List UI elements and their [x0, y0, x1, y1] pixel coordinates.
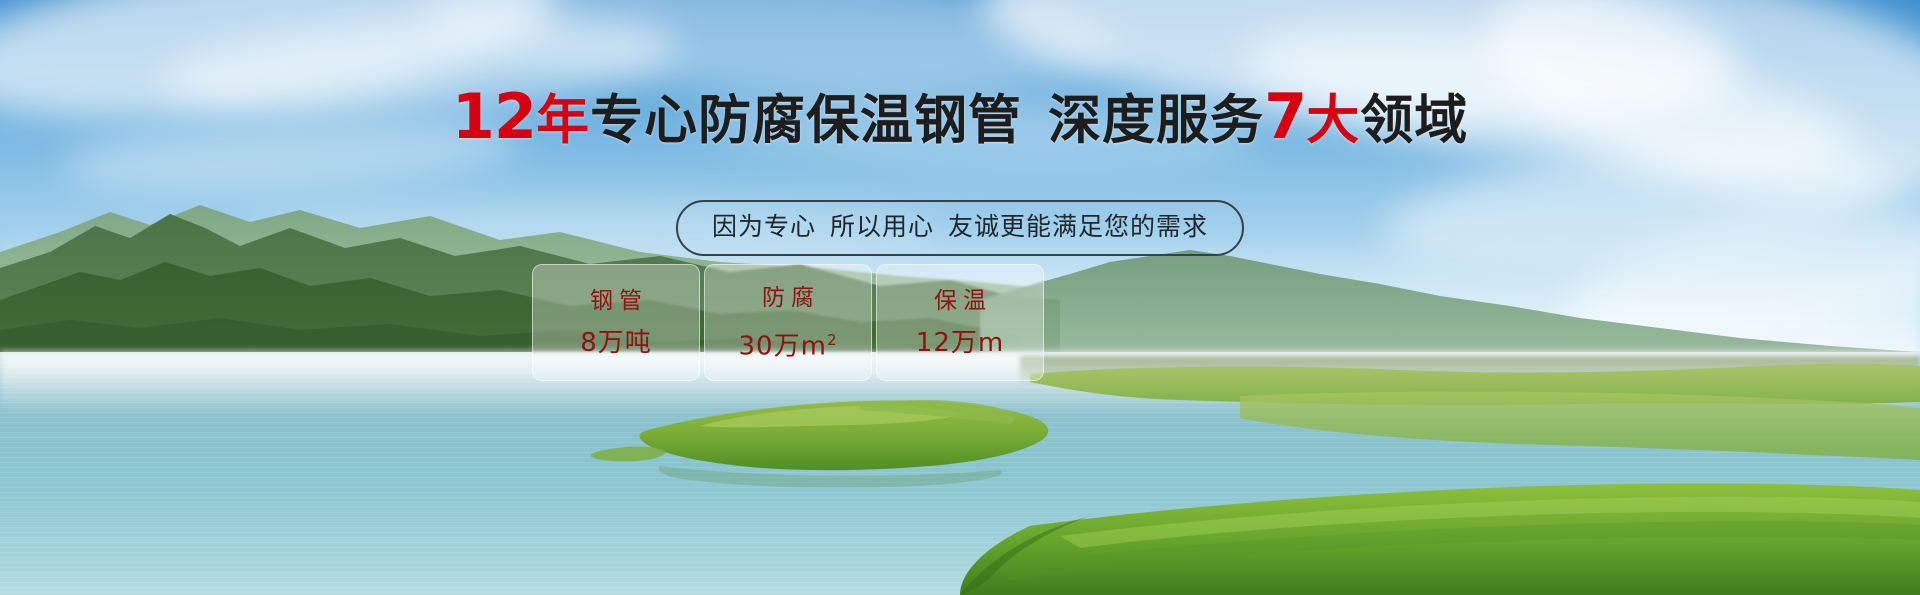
- stat-card-group: 钢管 8万吨 防腐 30万m2 保温 12万m: [532, 264, 1044, 381]
- page-title: 12年专心防腐保温钢管深度服务7大领域: [0, 86, 1920, 152]
- headline-years-unit: 年: [536, 90, 590, 151]
- stat-card-insulation: 保温 12万m: [876, 264, 1044, 381]
- headline-years-number: 12: [452, 80, 536, 153]
- stat-card-value: 30万m2: [739, 324, 838, 363]
- stat-card-value: 8万吨: [580, 327, 652, 359]
- banner-content: 12年专心防腐保温钢管深度服务7大领域 因为专心所以用心友诚更能满足您的需求 钢…: [0, 0, 1920, 595]
- stat-card-value-text: 8万吨: [580, 328, 652, 358]
- headline-main-text: 专心防腐保温钢管: [590, 90, 1022, 151]
- stat-card-value: 12万m: [916, 327, 1004, 359]
- subtitle-part-1: 因为专心: [712, 212, 816, 241]
- headline-service-text: 深度服务: [1048, 90, 1264, 151]
- stat-card-label: 防腐: [756, 283, 820, 313]
- stat-card-anticorrosion: 防腐 30万m2: [704, 264, 872, 381]
- subtitle-part-2: 所以用心: [830, 212, 934, 241]
- stat-card-steel-pipe: 钢管 8万吨: [532, 264, 700, 381]
- headline-scope-text: 领域: [1360, 90, 1468, 151]
- headline-scope-unit: 大: [1306, 90, 1360, 151]
- headline-scope-number: 7: [1264, 80, 1306, 153]
- subtitle-part-3: 友诚更能满足您的需求: [948, 212, 1208, 241]
- subtitle-pill: 因为专心所以用心友诚更能满足您的需求: [676, 200, 1244, 256]
- stat-card-value-superscript: 2: [827, 331, 838, 349]
- stat-card-label: 钢管: [584, 286, 648, 316]
- promo-banner: 12年专心防腐保温钢管深度服务7大领域 因为专心所以用心友诚更能满足您的需求 钢…: [0, 0, 1920, 595]
- stat-card-label: 保温: [928, 286, 992, 316]
- stat-card-value-text: 30万m: [739, 331, 827, 361]
- stat-card-value-text: 12万m: [916, 328, 1004, 358]
